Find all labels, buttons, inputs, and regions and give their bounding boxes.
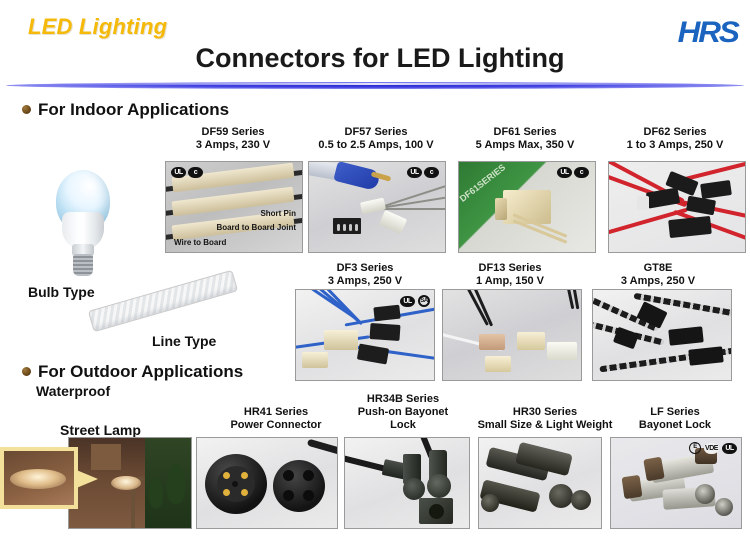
vde-mark-icon: VDE — [704, 443, 719, 454]
photo-hr30[interactable] — [478, 437, 602, 529]
approval-mark-icon: E — [689, 442, 701, 454]
label-street-lamp: Street Lamp — [60, 422, 141, 438]
hrs-logo: HRS — [677, 16, 737, 50]
bulb-illustration — [42, 168, 124, 280]
caption-lf-series: LF Series — [610, 406, 740, 419]
bullet-icon — [22, 105, 31, 114]
caption-df62-series: DF62 Series — [605, 126, 745, 139]
photo-gt8e-content — [593, 290, 731, 380]
caption-gt8e-series: GT8E — [588, 262, 728, 275]
ul-csa-mark-df61: ULc — [557, 167, 589, 178]
csa-mark-icon: c — [574, 167, 589, 178]
csa-mark-icon: SA — [418, 295, 430, 307]
caption-df57: DF57 Series 0.5 to 2.5 Amps, 100 V — [305, 126, 447, 152]
note-wire-to-board: Wire to Board — [174, 238, 226, 247]
ul-csa-mark-df57: ULc — [407, 167, 439, 178]
caption-lf: LF Series Bayonet Lock — [610, 406, 740, 432]
ul-mark-lf: EVDEUL — [689, 442, 737, 454]
callout-connector-icon — [10, 469, 66, 489]
photo-gt8e[interactable] — [592, 289, 732, 381]
ul-csa-mark-df3: ULSA — [400, 295, 430, 307]
ul-mark-icon: UL — [400, 296, 415, 307]
caption-df13-spec: 1 Amp, 150 V — [440, 275, 580, 288]
photo-lf[interactable]: EVDEUL — [610, 437, 742, 529]
photo-df61[interactable]: DF61SERIES ULc — [458, 161, 596, 253]
bulb-screw-icon — [73, 254, 93, 276]
section-heading-outdoor-label: For Outdoor Applications — [38, 362, 243, 381]
caption-lf-spec: Bayonet Lock — [610, 419, 740, 432]
caption-df3-spec: 3 Amps, 250 V — [295, 275, 435, 288]
caption-df62-spec: 1 to 3 Amps, 250 V — [605, 139, 745, 152]
bullet-icon — [22, 367, 31, 376]
caption-df3-series: DF3 Series — [295, 262, 435, 275]
ul-mark-icon: UL — [722, 443, 737, 454]
caption-df62: DF62 Series 1 to 3 Amps, 250 V — [605, 126, 745, 152]
photo-df62[interactable] — [608, 161, 746, 253]
slide-kicker: LED Lighting — [28, 14, 167, 40]
photo-hr41[interactable] — [196, 437, 338, 529]
ul-csa-mark-df59: ULc — [171, 167, 203, 178]
label-waterproof: Waterproof — [36, 383, 110, 399]
caption-df61-series: DF61 Series — [455, 126, 595, 139]
section-heading-outdoor: For Outdoor Applications — [22, 362, 243, 382]
section-heading-indoor: For Indoor Applications — [22, 100, 229, 120]
photo-df13-content — [443, 290, 581, 380]
caption-df59-spec: 3 Amps, 230 V — [165, 139, 301, 152]
caption-df57-series: DF57 Series — [305, 126, 447, 139]
ul-mark-icon: UL — [557, 167, 572, 178]
caption-gt8e-spec: 3 Amps, 250 V — [588, 275, 728, 288]
caption-gt8e: GT8E 3 Amps, 250 V — [588, 262, 728, 288]
caption-df13-series: DF13 Series — [440, 262, 580, 275]
caption-df61-spec: 5 Amps Max, 350 V — [455, 139, 595, 152]
photo-hr34b[interactable] — [344, 437, 470, 529]
caption-df61: DF61 Series 5 Amps Max, 350 V — [455, 126, 595, 152]
caption-df59-series: DF59 Series — [165, 126, 301, 139]
caption-df59: DF59 Series 3 Amps, 230 V — [165, 126, 301, 152]
photo-hr30-content — [479, 438, 601, 528]
note-short-pin: Short Pin — [260, 209, 296, 218]
caption-df57-spec: 0.5 to 2.5 Amps, 100 V — [305, 139, 447, 152]
page-title: Connectors for LED Lighting — [0, 43, 750, 74]
caption-hr34b-series: HR34B Series — [330, 393, 476, 406]
photo-df59[interactable]: ULc Short Pin Board to Board Joint Wire … — [165, 161, 303, 253]
caption-df3: DF3 Series 3 Amps, 250 V — [295, 262, 435, 288]
photo-df57[interactable]: ULc — [308, 161, 446, 253]
label-line-type: Line Type — [152, 333, 216, 349]
photo-hr34b-content — [345, 438, 469, 528]
photo-df3[interactable]: ULSA — [295, 289, 435, 381]
photo-hr41-content — [197, 438, 337, 528]
photo-df13[interactable] — [442, 289, 582, 381]
caption-df13: DF13 Series 1 Amp, 150 V — [440, 262, 580, 288]
csa-mark-icon: c — [424, 167, 439, 178]
section-heading-indoor-label: For Indoor Applications — [38, 100, 229, 119]
csa-mark-icon: c — [188, 167, 203, 178]
header-divider — [6, 82, 744, 89]
ul-mark-icon: UL — [407, 167, 422, 178]
note-board-to-board: Board to Board Joint — [216, 223, 296, 232]
photo-df62-content — [609, 162, 745, 252]
callout-zoom-box — [0, 447, 78, 509]
slide-root: LED Lighting Connectors for LED Lighting… — [0, 0, 750, 546]
label-bulb-type: Bulb Type — [28, 284, 95, 300]
ul-mark-icon: UL — [171, 167, 186, 178]
